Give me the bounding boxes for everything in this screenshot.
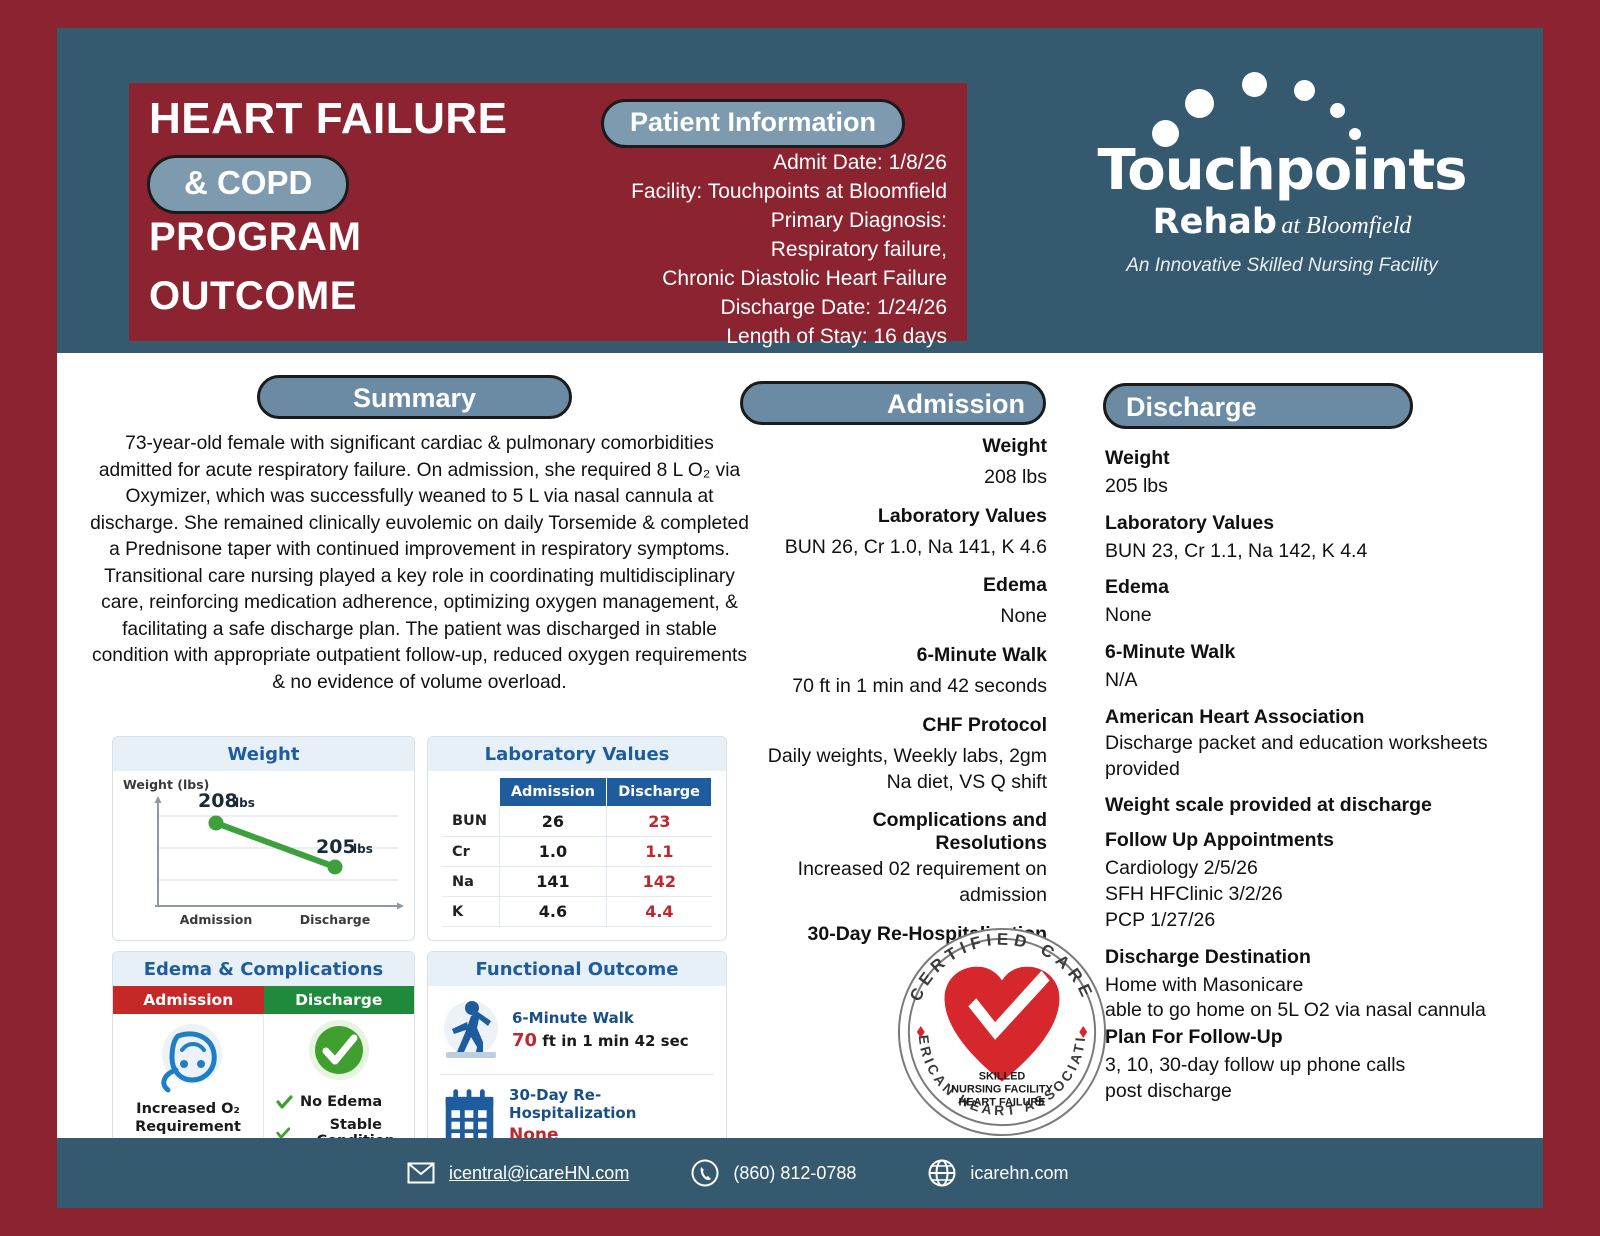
functional-rehosp-title: 30-Day Re-Hospitalization bbox=[509, 1086, 718, 1122]
footer-email-text[interactable]: icentral@icareHN.com bbox=[449, 1163, 629, 1184]
admission-weight-label: Weight bbox=[757, 435, 1047, 458]
walking-person-icon bbox=[440, 995, 502, 1065]
functional-walk-rest: ft in 1 min 42 sec bbox=[537, 1032, 689, 1050]
discharge-plan-label: Plan For Follow-Up bbox=[1105, 1026, 1505, 1049]
weight-xtick-admission: Admission bbox=[180, 912, 253, 927]
admission-labs-value: BUN 26, Cr 1.0, Na 141, K 4.6 bbox=[757, 535, 1047, 561]
logo-dot-icon bbox=[1294, 80, 1315, 101]
edema-panel-title: Edema & Complications bbox=[113, 952, 414, 986]
footer-phone-item: (860) 812-0788 bbox=[691, 1159, 856, 1187]
lab-admission-value: 1.0 bbox=[499, 837, 607, 867]
edema-discharge-header: Discharge bbox=[264, 986, 415, 1014]
functional-walk-row: 6-Minute Walk 70 ft in 1 min 42 sec bbox=[428, 986, 726, 1074]
logo-subwordmark: Rehab at Bloomfield bbox=[1082, 202, 1482, 242]
lab-admission-value: 4.6 bbox=[499, 897, 607, 927]
discharge-aha-label: American Heart Association bbox=[1105, 706, 1505, 729]
lab-row-label: Cr bbox=[442, 837, 499, 867]
globe-icon bbox=[928, 1159, 956, 1187]
phone-icon bbox=[691, 1159, 719, 1187]
weight-chart-ylabel: Weight (lbs) bbox=[123, 777, 209, 792]
discharge-labs-value: BUN 23, Cr 1.1, Na 142, K 4.4 bbox=[1105, 539, 1505, 565]
edema-admission-cell: Increased O₂ Requirement bbox=[113, 1014, 264, 1144]
table-header-row: Admission Discharge bbox=[442, 778, 712, 807]
mail-icon bbox=[407, 1162, 435, 1184]
discharge-labs-label: Laboratory Values bbox=[1105, 512, 1505, 535]
weight-point-label-admission: 208 bbox=[198, 790, 238, 812]
admission-chf-label: CHF Protocol bbox=[757, 714, 1047, 737]
lab-col-admission: Admission bbox=[499, 778, 607, 807]
admission-edema-label: Edema bbox=[757, 574, 1047, 597]
seal-center-line3: HEART FAILURE bbox=[958, 1096, 1045, 1108]
seal-center-line1: SKILLED bbox=[979, 1071, 1026, 1083]
admission-chf-value: Daily weights, Weekly labs, 2gm Na diet,… bbox=[757, 744, 1047, 795]
discharge-edema-value: None bbox=[1105, 603, 1505, 629]
discharge-weight-label: Weight bbox=[1105, 447, 1505, 470]
summary-text: 73-year-old female with significant card… bbox=[87, 431, 752, 696]
edema-complications-panel: Edema & Complications Admission Discharg… bbox=[112, 951, 415, 1149]
admission-complications-value: Increased 02 requirement on admission bbox=[757, 857, 1047, 908]
logo-dot-icon bbox=[1185, 89, 1214, 118]
logo-dot-icon bbox=[1242, 72, 1267, 97]
lab-row-label: Na bbox=[442, 867, 499, 897]
edema-header-row: Admission Discharge bbox=[113, 986, 414, 1014]
functional-panel-title: Functional Outcome bbox=[428, 952, 726, 986]
edema-discharge-cell: No Edema Stable Condition bbox=[264, 1014, 414, 1144]
page-title-line2: PROGRAM bbox=[149, 217, 361, 257]
functional-walk-title: 6-Minute Walk bbox=[512, 1009, 689, 1027]
admission-weight-value: 208 lbs bbox=[757, 465, 1047, 491]
svg-text:lbs: lbs bbox=[353, 842, 373, 856]
footer-website-text[interactable]: icarehn.com bbox=[970, 1163, 1068, 1184]
admission-walk-value: 70 ft in 1 min and 42 seconds bbox=[757, 674, 1047, 700]
edema-check-no-edema: No Edema bbox=[276, 1094, 414, 1110]
body-area: Summary Admission Discharge 73-year-old … bbox=[57, 353, 1543, 1138]
patient-information-list: Admit Date: 1/8/26 Facility: Touchpoints… bbox=[529, 149, 947, 352]
weight-point-label-discharge: 205 bbox=[316, 836, 356, 858]
discharge-followup-label: Follow Up Appointments bbox=[1105, 829, 1505, 852]
admission-walk-label: 6-Minute Walk bbox=[757, 644, 1047, 667]
seal-center-line2: NURSING FACILITY bbox=[951, 1083, 1053, 1095]
admission-pill: Admission bbox=[740, 381, 1046, 425]
green-check-circle-icon bbox=[293, 1019, 385, 1085]
patient-info-admit-date: Admit Date: 1/8/26 bbox=[529, 149, 947, 178]
discharge-weight-value: 205 lbs bbox=[1105, 474, 1505, 500]
patient-info-length-of-stay: Length of Stay: 16 days bbox=[529, 323, 947, 352]
table-row: Na 141 142 bbox=[442, 867, 712, 897]
weight-chart-panel: Weight Weight (lbs) 208 lbs 205 bbox=[112, 736, 415, 941]
patient-info-discharge-date: Discharge Date: 1/24/26 bbox=[529, 294, 947, 323]
discharge-column: Weight 205 lbs Laboratory Values BUN 23,… bbox=[1105, 435, 1505, 1105]
page-title-line1: HEART FAILURE bbox=[149, 97, 508, 141]
discharge-followup-value: Cardiology 2/5/26 SFH HFClinic 3/2/26 PC… bbox=[1105, 856, 1505, 933]
table-row: BUN 26 23 bbox=[442, 807, 712, 837]
patient-info-facility: Facility: Touchpoints at Bloomfield bbox=[529, 178, 947, 207]
footer-email-item[interactable]: icentral@icareHN.com bbox=[407, 1162, 629, 1184]
lab-row-label: K bbox=[442, 897, 499, 927]
edema-check-label: No Edema bbox=[300, 1094, 382, 1110]
check-icon bbox=[276, 1095, 293, 1110]
lab-discharge-value: 142 bbox=[607, 867, 712, 897]
edema-body: Increased O₂ Requirement No Edema bbox=[113, 1014, 414, 1144]
lab-col-discharge: Discharge bbox=[607, 778, 712, 807]
discharge-edema-label: Edema bbox=[1105, 576, 1505, 599]
lab-discharge-value: 4.4 bbox=[607, 897, 712, 927]
poster-page: HEART FAILURE & COPD PROGRAM OUTCOME Pat… bbox=[57, 28, 1543, 1208]
patient-info-diagnosis-2: Chronic Diastolic Heart Failure bbox=[529, 265, 947, 294]
laboratory-values-panel: Laboratory Values Admission Discharge BU… bbox=[427, 736, 727, 941]
admission-complications-label: Complications and Resolutions bbox=[757, 809, 1047, 855]
discharge-plan-value: 3, 10, 30-day follow up phone calls post… bbox=[1105, 1053, 1505, 1104]
footer-bar: icentral@icareHN.com (860) 812-0788 icar… bbox=[57, 1138, 1543, 1208]
discharge-destination-value: Home with Masonicare able to go home on … bbox=[1105, 973, 1505, 1024]
header-band: HEART FAILURE & COPD PROGRAM OUTCOME Pat… bbox=[57, 28, 1543, 353]
discharge-aha-value: Discharge packet and education worksheet… bbox=[1105, 731, 1505, 782]
discharge-scale-label: Weight scale provided at discharge bbox=[1105, 794, 1505, 817]
functional-rehosp-text: 30-Day Re-Hospitalization None bbox=[509, 1086, 718, 1145]
discharge-walk-label: 6-Minute Walk bbox=[1105, 641, 1505, 664]
lab-col-blank bbox=[442, 778, 499, 807]
lab-admission-value: 141 bbox=[499, 867, 607, 897]
edema-admission-caption: Increased O₂ Requirement bbox=[113, 1100, 263, 1136]
admission-edema-value: None bbox=[757, 604, 1047, 630]
patient-information-pill: Patient Information bbox=[601, 99, 905, 148]
logo-wordmark: Touchpoints bbox=[1082, 138, 1482, 203]
summary-pill: Summary bbox=[257, 375, 572, 419]
patient-info-diagnosis-label: Primary Diagnosis: bbox=[529, 207, 947, 236]
page-title-line3: OUTCOME bbox=[149, 276, 357, 316]
lab-discharge-value: 1.1 bbox=[607, 837, 712, 867]
weight-panel-title: Weight bbox=[113, 737, 414, 771]
logo-tagline: An Innovative Skilled Nursing Facility bbox=[1072, 255, 1492, 277]
logo-rehab-text: Rehab bbox=[1153, 202, 1277, 242]
admission-column: Weight 208 lbs Laboratory Values BUN 26,… bbox=[757, 435, 1047, 974]
weight-chart-svg: 208 lbs 205 lbs Admission Discharge bbox=[113, 771, 415, 931]
title-copd-pill: & COPD bbox=[147, 155, 349, 214]
lab-admission-value: 26 bbox=[499, 807, 607, 837]
table-row: Cr 1.0 1.1 bbox=[442, 837, 712, 867]
weight-xtick-discharge: Discharge bbox=[300, 912, 370, 927]
edema-admission-header: Admission bbox=[113, 986, 264, 1014]
footer-phone-text: (860) 812-0788 bbox=[733, 1163, 856, 1184]
discharge-destination-label: Discharge Destination bbox=[1105, 946, 1505, 969]
discharge-walk-value: N/A bbox=[1105, 668, 1505, 694]
footer-website-item[interactable]: icarehn.com bbox=[928, 1159, 1068, 1187]
table-row: K 4.6 4.4 bbox=[442, 897, 712, 927]
functional-walk-text: 6-Minute Walk 70 ft in 1 min 42 sec bbox=[512, 1009, 689, 1051]
touchpoints-logo: Touchpoints Rehab at Bloomfield An Innov… bbox=[1072, 50, 1492, 340]
functional-outcome-panel: Functional Outcome 6-Minute Walk 70 ft i… bbox=[427, 951, 727, 1149]
weight-chart: Weight (lbs) 208 lbs 205 lbs Ad bbox=[113, 771, 414, 931]
lab-row-label: BUN bbox=[442, 807, 499, 837]
calendar-icon bbox=[440, 1084, 499, 1146]
functional-walk-value: 70 ft in 1 min 42 sec bbox=[512, 1030, 689, 1051]
lab-panel-title: Laboratory Values bbox=[428, 737, 726, 771]
oxygen-mask-icon bbox=[138, 1020, 238, 1098]
logo-location-text: at Bloomfield bbox=[1281, 213, 1411, 239]
discharge-pill: Discharge bbox=[1103, 383, 1413, 429]
title-box: HEART FAILURE & COPD PROGRAM OUTCOME Pat… bbox=[129, 83, 967, 341]
admission-labs-label: Laboratory Values bbox=[757, 505, 1047, 528]
lab-values-table: Admission Discharge BUN 26 23 Cr 1.0 1.1… bbox=[442, 777, 712, 927]
svg-text:lbs: lbs bbox=[235, 796, 255, 810]
lab-discharge-value: 23 bbox=[607, 807, 712, 837]
logo-dot-icon bbox=[1330, 103, 1345, 118]
patient-info-diagnosis-1: Respiratory failure, bbox=[529, 236, 947, 265]
aha-certified-care-seal-icon: CERTIFIED CARE AMERICAN HEART ASSOCIATIO… bbox=[893, 923, 1111, 1141]
functional-walk-number: 70 bbox=[512, 1030, 537, 1051]
